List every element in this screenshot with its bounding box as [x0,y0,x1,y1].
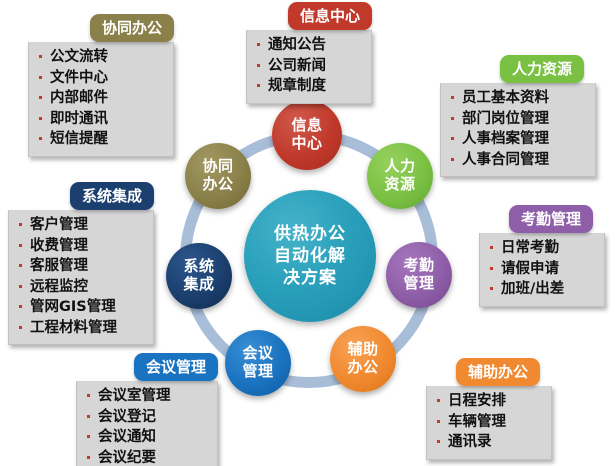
list-item: 远程监控 [17,277,143,298]
node-meeting-line-1: 会议 [242,345,273,363]
list-item: 工程材料管理 [17,318,143,339]
node-system-integration-line-2: 集成 [183,276,214,294]
node-info-center[interactable]: 信息 中心 [272,100,342,170]
box-info-center-title: 信息中心 [288,2,372,30]
list-item: 通讯录 [435,432,541,453]
hub-line-3: 决方案 [283,267,337,289]
node-system-integration-line-1: 系统 [183,258,214,276]
box-meeting: 会议管理 会议室管理 会议登记 会议通知 会议纪要 [76,353,218,466]
node-attendance-line-1: 考勤 [403,257,434,275]
node-human-resources-line-1: 人力 [384,158,415,176]
box-assist-office-body: 日程安排 车辆管理 通讯录 [426,386,552,460]
list-item: 车辆管理 [435,412,541,433]
box-attendance-title: 考勤管理 [509,205,593,233]
box-collab-office: 协同办公 公文流转 文件中心 内部邮件 即时通讯 短信提醒 [28,14,174,157]
box-human-resources-title: 人力资源 [500,55,584,83]
list-item: 部门岗位管理 [449,109,585,130]
list-item: 会议室管理 [85,386,207,407]
box-system-integration-body: 客户管理 收费管理 客服管理 远程监控 管网GIS管理 工程材料管理 [8,210,154,345]
list-item: 收费管理 [17,236,143,257]
list-item: 日常考勤 [488,238,594,259]
box-info-center-body: 通知公告 公司新闻 规章制度 [246,30,372,104]
list-item: 通知公告 [255,35,361,56]
node-human-resources-line-2: 资源 [384,176,415,194]
box-attendance-body: 日常考勤 请假申请 加班/出差 [479,233,605,307]
hub-circle: 供热办公 自动化解 决方案 [244,190,376,322]
list-item: 会议纪要 [85,448,207,466]
node-human-resources[interactable]: 人力 资源 [367,143,433,209]
list-item: 短信提醒 [37,129,163,150]
list-item: 内部邮件 [37,88,163,109]
box-collab-office-body: 公文流转 文件中心 内部邮件 即时通讯 短信提醒 [28,42,174,157]
box-meeting-title: 会议管理 [134,353,218,381]
diagram-canvas: 供热办公 自动化解 决方案 信息 中心 人力 资源 考勤 管理 辅助 办公 会议… [0,0,615,466]
node-assist-office[interactable]: 辅助 办公 [330,326,396,392]
node-collab-office-line-1: 协同 [202,158,233,176]
list-item: 请假申请 [488,259,594,280]
list-item: 员工基本资料 [449,88,585,109]
list-item: 日程安排 [435,391,541,412]
list-item: 客户管理 [17,215,143,236]
list-item: 规章制度 [255,76,361,97]
list-item: 即时通讯 [37,109,163,130]
box-system-integration-title: 系统集成 [70,182,154,210]
list-item: 加班/出差 [488,279,594,300]
box-info-center: 信息中心 通知公告 公司新闻 规章制度 [246,2,372,104]
list-item: 人事档案管理 [449,129,585,150]
list-item: 会议通知 [85,427,207,448]
hub-line-2: 自动化解 [274,245,346,267]
node-info-center-line-1: 信息 [291,117,322,135]
node-collab-office-line-2: 办公 [202,176,233,194]
box-attendance: 考勤管理 日常考勤 请假申请 加班/出差 [479,205,605,307]
box-collab-office-title: 协同办公 [90,14,174,42]
box-meeting-body: 会议室管理 会议登记 会议通知 会议纪要 [76,381,218,466]
list-item: 会议登记 [85,407,207,428]
node-assist-office-line-1: 辅助 [347,341,378,359]
box-assist-office-title: 辅助办公 [456,358,540,386]
hub-line-1: 供热办公 [274,223,346,245]
box-human-resources-body: 员工基本资料 部门岗位管理 人事档案管理 人事合同管理 [440,83,596,177]
list-item: 文件中心 [37,68,163,89]
box-system-integration: 系统集成 客户管理 收费管理 客服管理 远程监控 管网GIS管理 工程材料管理 [8,182,154,345]
node-system-integration[interactable]: 系统 集成 [166,243,232,309]
node-attendance-line-2: 管理 [403,275,434,293]
list-item: 公司新闻 [255,56,361,77]
node-collab-office[interactable]: 协同 办公 [185,143,251,209]
node-attendance[interactable]: 考勤 管理 [386,242,452,308]
node-meeting-line-2: 管理 [242,363,273,381]
node-assist-office-line-2: 办公 [347,359,378,377]
list-item: 客服管理 [17,256,143,277]
node-meeting[interactable]: 会议 管理 [225,330,291,396]
node-info-center-line-2: 中心 [291,135,322,153]
box-assist-office: 辅助办公 日程安排 车辆管理 通讯录 [426,358,552,460]
list-item: 管网GIS管理 [17,297,143,318]
list-item: 人事合同管理 [449,150,585,171]
box-human-resources: 人力资源 员工基本资料 部门岗位管理 人事档案管理 人事合同管理 [440,55,596,177]
list-item: 公文流转 [37,47,163,68]
